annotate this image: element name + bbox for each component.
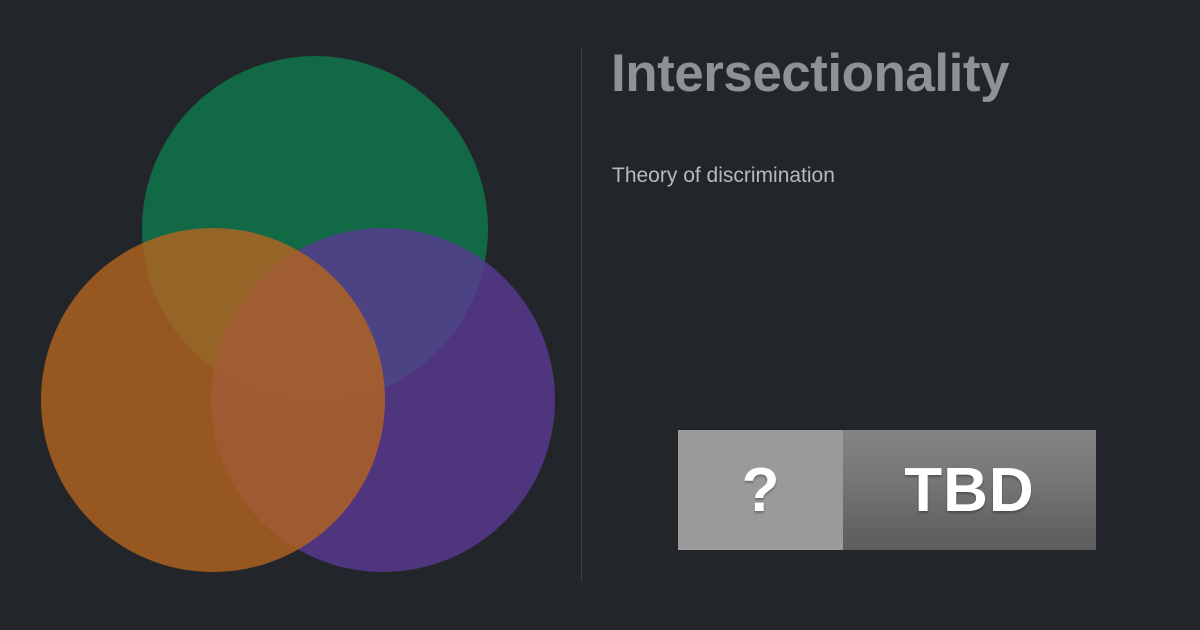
page-title: Intersectionality xyxy=(611,45,1009,102)
og-card: Intersectionality Theory of discriminati… xyxy=(0,0,1200,630)
badge-label-question-mark-icon: ? xyxy=(678,430,843,550)
status-badge[interactable]: ? TBD xyxy=(678,430,1096,550)
page-subtitle: Theory of discrimination xyxy=(612,162,835,189)
badge-value-tbd: TBD xyxy=(843,430,1096,550)
venn-diagram-panel xyxy=(0,0,581,630)
vertical-divider xyxy=(581,48,582,582)
venn-diagram xyxy=(0,0,581,630)
venn-circle-orange xyxy=(41,228,385,572)
